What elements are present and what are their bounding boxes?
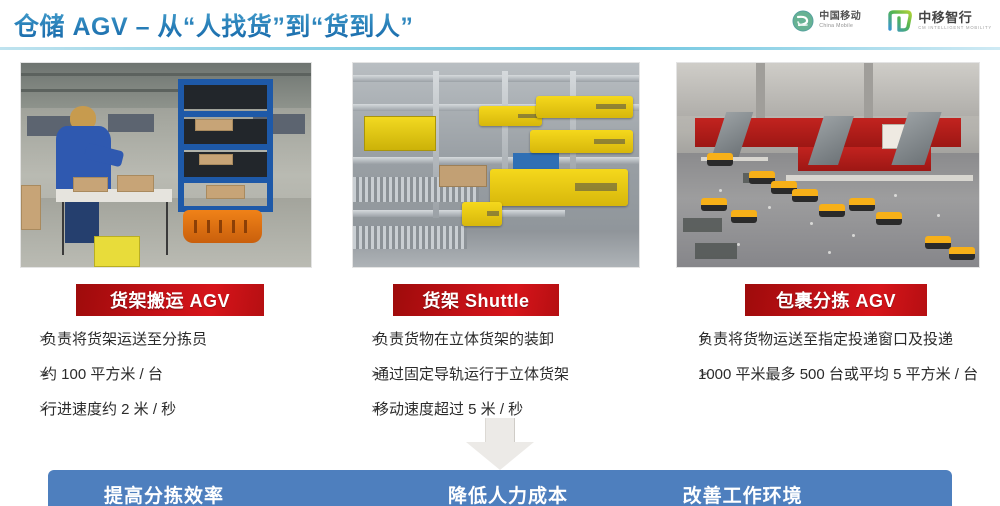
logo-group: 中国移动 China Mobile 中移智行 (792, 9, 992, 33)
china-mobile-mark-icon (792, 10, 814, 32)
arrow-bullet-icon: ➢ (352, 363, 374, 384)
page-title: 仓储 AGV – 从“人找货”到“货到人” (14, 7, 413, 43)
list-item: ➢ 约 100 平方米 / 台 (20, 363, 312, 386)
blue-rack (178, 79, 274, 212)
china-mobile-logo: 中国移动 China Mobile (792, 10, 861, 32)
bullets-column-1: ➢ 负责将货架运送至分拣员 ➢ 约 100 平方米 / 台 ➢ 行进速度约 2 … (20, 328, 312, 421)
slide: 仓储 AGV – 从“人找货”到“货到人” 中国移动 China Mobile (0, 0, 1000, 506)
list-item: ➢ 通过固定导轨运行于立体货架 (352, 363, 640, 386)
arrow-bullet-icon: ➢ (20, 363, 42, 384)
cm-intelligent-mobility-wordmark: 中移智行 CM INTELLIGENT MOBILITY (918, 11, 992, 30)
benefit-item: 改善工作环境 (643, 481, 952, 506)
heading-band-row-2: 货架 Shuttle (352, 284, 640, 318)
bullets-column-3: ➢ 负责将货物运送至指定投递窗口及投递 ➢ 1000 平米最多 500 台或平均… (676, 328, 980, 386)
orange-agv (183, 210, 261, 243)
benefit-item: 降低人力成本 (373, 481, 642, 506)
logo2-label-en: CM INTELLIGENT MOBILITY (918, 26, 992, 30)
benefit-item: 提高分拣效率 (48, 481, 373, 506)
down-arrow-icon (466, 418, 534, 470)
arrow-bullet-icon: ➢ (20, 398, 42, 419)
logo-label-en: China Mobile (819, 24, 861, 29)
bullet-text: 行进速度约 2 米 / 秒 (42, 398, 176, 421)
list-item: ➢ 行进速度约 2 米 / 秒 (20, 398, 312, 421)
benefits-bar: 提高分拣效率 降低人力成本 改善工作环境 (48, 470, 952, 506)
china-mobile-wordmark: 中国移动 China Mobile (819, 12, 861, 29)
bullet-text: 负责将货架运送至分拣员 (42, 328, 207, 351)
heading-parcel-sorting-agv: 包裹分拣 AGV (745, 284, 927, 316)
column-shelf-transport-agv: 货架搬运 AGV ➢ 负责将货架运送至分拣员 ➢ 约 100 平方米 / 台 ➢… (20, 62, 312, 433)
swoosh-mark-icon (887, 9, 913, 33)
arrow-bullet-icon: ➢ (352, 398, 374, 419)
arrow-bullet-icon: ➢ (676, 328, 698, 349)
heading-shelf-transport-agv: 货架搬运 AGV (76, 284, 264, 316)
bullet-text: 1000 平米最多 500 台或平均 5 平方米 / 台 (698, 363, 978, 386)
arrow-bullet-icon: ➢ (20, 328, 42, 349)
arrow-bullet-icon: ➢ (676, 363, 698, 384)
list-item: ➢ 1000 平米最多 500 台或平均 5 平方米 / 台 (676, 363, 980, 386)
list-item: ➢ 负责将货架运送至分拣员 (20, 328, 312, 351)
logo2-label-cn: 中移智行 (918, 11, 992, 24)
heading-band-row-3: 包裹分拣 AGV (676, 284, 980, 318)
column-shelf-shuttle: 货架 Shuttle ➢ 负责货物在立体货架的装卸 ➢ 通过固定导轨运行于立体货… (352, 62, 640, 433)
photo-shuttle-racking (352, 62, 640, 268)
header-divider (0, 47, 1000, 50)
cm-intelligent-mobility-logo: 中移智行 CM INTELLIGENT MOBILITY (887, 9, 992, 33)
bullet-text: 约 100 平方米 / 台 (42, 363, 163, 386)
list-item: ➢ 负责将货物运送至指定投递窗口及投递 (676, 328, 980, 351)
list-item: ➢ 负责货物在立体货架的装卸 (352, 328, 640, 351)
heading-band-row-1: 货架搬运 AGV (20, 284, 312, 318)
logo-label-cn: 中国移动 (819, 12, 861, 22)
bullet-text: 负责将货物运送至指定投递窗口及投递 (698, 328, 953, 351)
bullet-text: 通过固定导轨运行于立体货架 (374, 363, 569, 386)
slide-header: 仓储 AGV – 从“人找货”到“货到人” 中国移动 China Mobile (0, 0, 1000, 49)
photo-warehouse-worker-agv (20, 62, 312, 268)
bullet-text: 负责货物在立体货架的装卸 (374, 328, 554, 351)
bullets-column-2: ➢ 负责货物在立体货架的装卸 ➢ 通过固定导轨运行于立体货架 ➢ 移动速度超过 … (352, 328, 640, 421)
photo-parcel-sorting-hall (676, 62, 980, 268)
column-parcel-sorting-agv: 包裹分拣 AGV ➢ 负责将货物运送至指定投递窗口及投递 ➢ 1000 平米最多… (676, 62, 980, 398)
heading-shelf-shuttle: 货架 Shuttle (393, 284, 559, 316)
arrow-bullet-icon: ➢ (352, 328, 374, 349)
